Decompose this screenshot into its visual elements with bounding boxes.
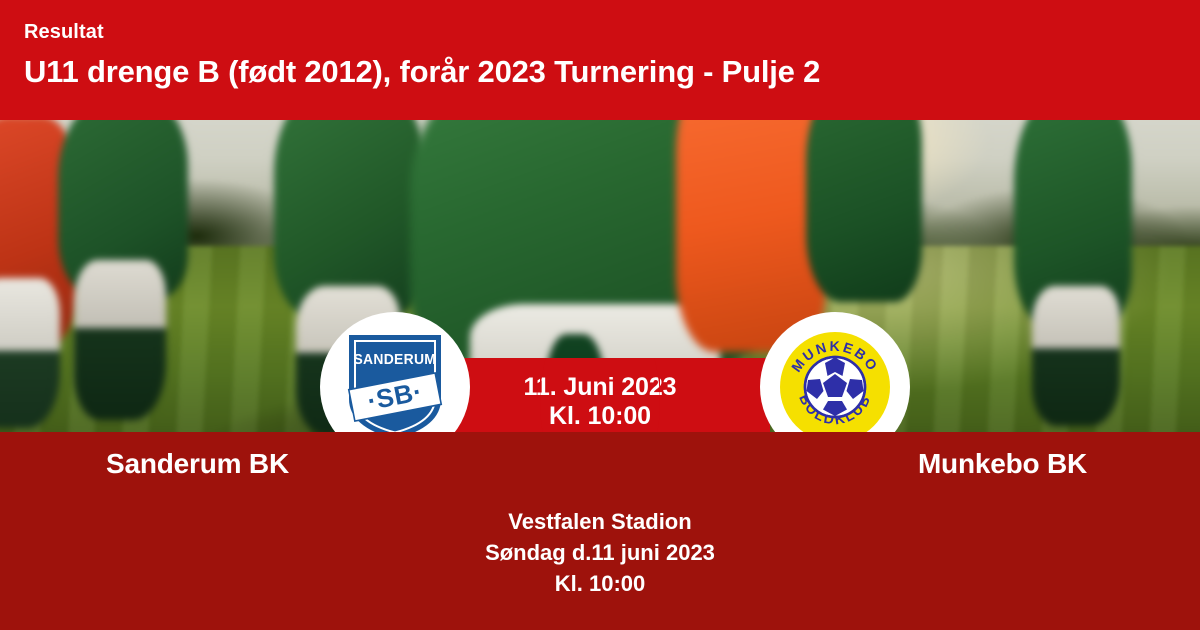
venue-stadium: Vestfalen Stadion — [0, 506, 1200, 537]
photo-player-red-left-legs — [0, 278, 60, 428]
photo-player-orange — [676, 120, 826, 352]
match-date-banner: 11. Juni 2023 Kl. 10:00 — [430, 358, 770, 432]
page-title: U11 drenge B (født 2012), forår 2023 Tur… — [24, 56, 1200, 89]
venue-day-date: Søndag d.11 juni 2023 — [0, 537, 1200, 568]
venue-details: Vestfalen Stadion Søndag d.11 juni 2023 … — [0, 506, 1200, 600]
match-date: 11. Juni 2023 — [524, 373, 677, 403]
poster-footer-band: Sanderum BK Munkebo BK Vestfalen Stadion… — [0, 432, 1200, 630]
match-photo-stage: 11. Juni 2023 Kl. 10:00 SANDERUM ·SB· — [0, 120, 1200, 432]
photo-player-green-d-legs — [1032, 286, 1120, 426]
home-team-name: Sanderum BK — [0, 448, 600, 480]
munkebo-circle-crest: MUNKEBO BOLDKLUB — [779, 331, 891, 432]
header-kicker: Resultat — [24, 22, 1200, 42]
venue-time: Kl. 10:00 — [0, 568, 1200, 599]
team-names-row: Sanderum BK Munkebo BK — [0, 448, 1200, 480]
sanderum-shield-crest: SANDERUM ·SB· — [343, 331, 447, 432]
photo-player-green-a-legs — [74, 260, 166, 420]
photo-player-green-c — [806, 120, 922, 302]
svg-text:SANDERUM: SANDERUM — [353, 352, 436, 368]
match-time: Kl. 10:00 — [549, 402, 651, 432]
away-team-name: Munkebo BK — [600, 448, 1200, 480]
poster-header: Resultat U11 drenge B (født 2012), forår… — [0, 0, 1200, 120]
match-result-poster: Resultat U11 drenge B (født 2012), forår… — [0, 0, 1200, 630]
